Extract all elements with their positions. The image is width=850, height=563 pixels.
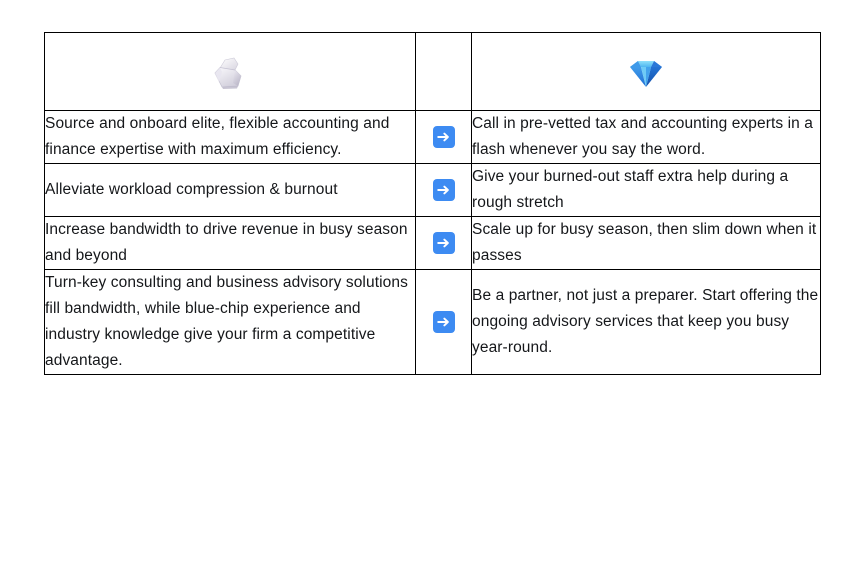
row-left-text: Alleviate workload compression & burnout xyxy=(45,164,416,217)
row-left-text: Turn-key consulting and business advisor… xyxy=(45,270,416,375)
table-row: Turn-key consulting and business advisor… xyxy=(45,270,821,375)
row-left-text: Source and onboard elite, flexible accou… xyxy=(45,111,416,164)
row-arrow-cell xyxy=(416,164,472,217)
table-header-row xyxy=(45,33,821,111)
row-right-text: Call in pre-vetted tax and accounting ex… xyxy=(472,111,821,164)
table-row: Increase bandwidth to drive revenue in b… xyxy=(45,217,821,270)
blue-diamond-icon xyxy=(626,52,666,92)
right-arrow-icon xyxy=(433,232,455,254)
row-right-text: Scale up for busy season, then slim down… xyxy=(472,217,821,270)
header-cell-right xyxy=(472,33,821,111)
right-arrow-icon xyxy=(433,179,455,201)
table-row: Source and onboard elite, flexible accou… xyxy=(45,111,821,164)
right-arrow-icon xyxy=(433,311,455,333)
header-cell-left xyxy=(45,33,416,111)
rock-icon xyxy=(207,49,253,95)
comparison-table: Source and onboard elite, flexible accou… xyxy=(44,32,821,375)
table-row: Alleviate workload compression & burnout… xyxy=(45,164,821,217)
row-left-text: Increase bandwidth to drive revenue in b… xyxy=(45,217,416,270)
row-arrow-cell xyxy=(416,111,472,164)
row-right-text: Give your burned-out staff extra help du… xyxy=(472,164,821,217)
row-arrow-cell xyxy=(416,270,472,375)
right-arrow-icon xyxy=(433,126,455,148)
row-right-text: Be a partner, not just a preparer. Start… xyxy=(472,270,821,375)
header-cell-middle xyxy=(416,33,472,111)
row-arrow-cell xyxy=(416,217,472,270)
